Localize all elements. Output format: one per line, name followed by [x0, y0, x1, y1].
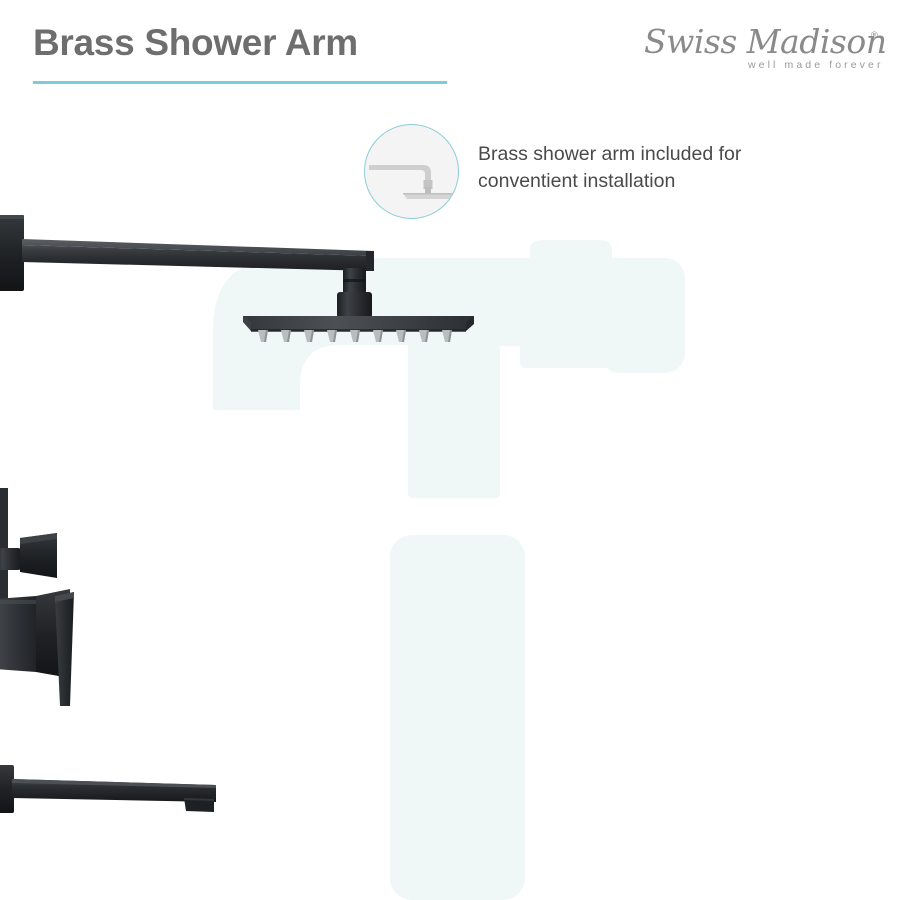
- valve-trim-handle: [0, 589, 74, 706]
- diverter-knob: [0, 533, 57, 578]
- tub-spout: [0, 765, 216, 813]
- product-renders: [0, 0, 900, 900]
- shower-arm: [22, 239, 374, 271]
- product-feature-page: Brass Shower Arm Swiss Madison ® well ma…: [0, 0, 900, 900]
- shower-head-swivel-connector: [337, 268, 372, 318]
- shower-arm-wall-flange: [0, 215, 24, 291]
- square-rain-shower-head: [243, 316, 474, 342]
